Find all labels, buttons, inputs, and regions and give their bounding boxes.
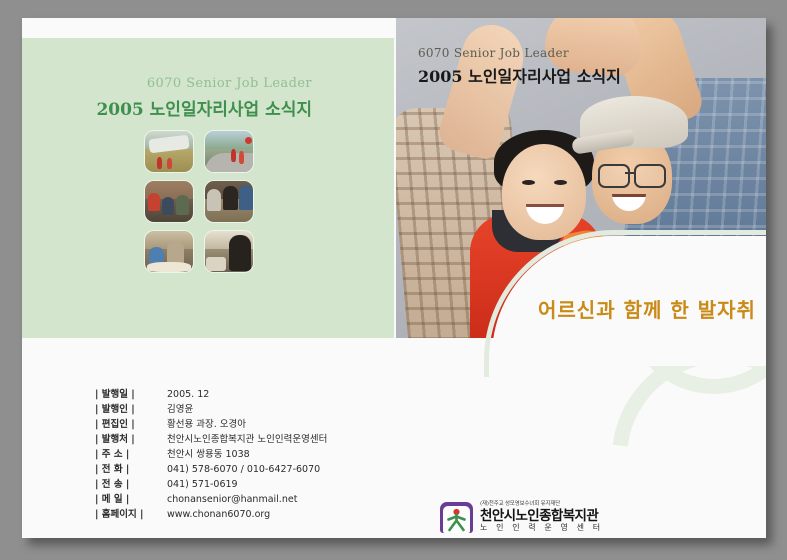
imprint-row: | 편집인 | 황선용 과장. 오경아 [95,416,327,431]
imprint-row: | 발행일 | 2005. 12 [95,386,327,401]
imprint-label: | 발행인 | [95,401,157,415]
photo-thumbnail [205,231,253,272]
imprint-row: | 발행인 | 김영윤 [95,401,327,416]
imprint-label: | 발행일 | [95,386,157,400]
photo-thumbnail [205,181,253,222]
photo-thumbnail [145,131,193,172]
organization-logo: (재)천주교 성모영보수녀회 유지재단 천안시노인종합복지관 노 인 인 력 운… [440,502,603,533]
imprint-value: 2005. 12 [157,389,209,400]
imprint-row: | 전 송 | 041) 571-0619 [95,476,327,491]
person-glyph-icon [440,505,473,533]
imprint-email-value: chonansenior@hanmail.net [157,494,297,505]
imprint-row: | 주 소 | 천안시 쌍용동 1038 [95,446,327,461]
front-cover-tagline: 어르신과 함께 한 발자취 [538,294,756,323]
imprint-value: 천안시 쌍용동 1038 [157,446,250,460]
left-cover-korean-title: 2005 노인일자리사업 소식지 [22,95,312,120]
imprint-value: 황선용 과장. 오경아 [157,416,246,430]
photo-thumbnail [145,181,193,222]
imprint-block: | 발행일 | 2005. 12 | 발행인 | 김영윤 | 편집인 | 황선용… [95,386,327,521]
front-cover-english-title: 6070 Senior Job Leader [418,46,621,60]
logo-shield-icon [440,502,473,533]
imprint-label: | 발행처 | [95,431,157,445]
imprint-label: | 주 소 | [95,446,157,460]
imprint-label: | 메 일 | [95,491,157,505]
photo-thumbnail [145,231,193,272]
photo-thumbnail [205,131,253,172]
logo-text-block: (재)천주교 성모영보수녀회 유지재단 천안시노인종합복지관 노 인 인 력 운… [480,502,603,532]
imprint-website-value: www.chonan6070.org [157,509,270,520]
logo-subtitle: 노 인 인 력 운 영 센 터 [480,524,603,532]
imprint-row: | 발행처 | 천안시노인종합복지관 노인인력운영센터 [95,431,327,446]
imprint-value: 041) 571-0619 [157,479,238,490]
left-cover-english-title: 6070 Senior Job Leader [22,76,312,91]
left-cover-title-block: 6070 Senior Job Leader 2005 노인일자리사업 소식지 [22,76,312,120]
imprint-label: | 전 화 | [95,461,157,475]
logo-organization-name: 천안시노인종합복지관 [480,509,603,523]
imprint-value: 천안시노인종합복지관 노인인력운영센터 [157,431,327,445]
imprint-row: | 홈페이지 | www.chonan6070.org [95,506,327,521]
front-cover-korean-title: 2005 노인일자리사업 소식지 [418,63,621,87]
imprint-row: | 메 일 | chonansenior@hanmail.net [95,491,327,506]
imprint-label: | 전 송 | [95,476,157,490]
front-cover-title-block: 6070 Senior Job Leader 2005 노인일자리사업 소식지 [418,46,621,87]
imprint-value: 김영윤 [157,401,193,415]
left-cover-photo-grid [145,131,261,272]
imprint-label: | 홈페이지 | [95,506,157,520]
brochure-spread: 6070 Senior Job Leader 2005 노인일자리사업 소식지 [22,18,766,538]
imprint-label: | 편집인 | [95,416,157,430]
imprint-row: | 전 화 | 041) 578-6070 / 010-6427-6070 [95,461,327,476]
imprint-value: 041) 578-6070 / 010-6427-6070 [157,464,320,475]
